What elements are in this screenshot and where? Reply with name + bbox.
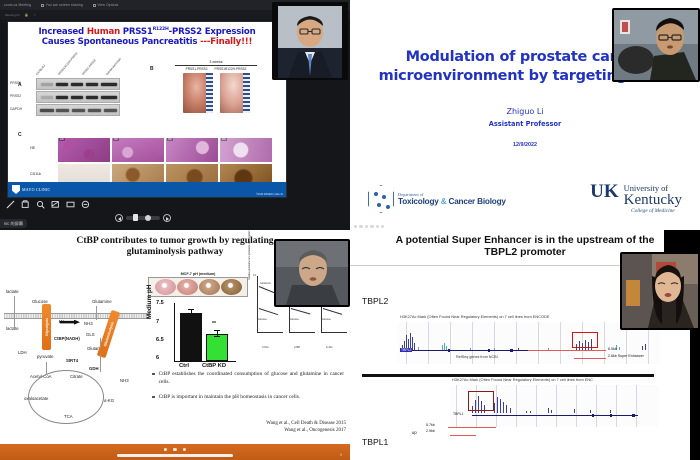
ihc-tag: 3W bbox=[113, 138, 119, 141]
blot-gel-0 bbox=[36, 78, 120, 90]
tca-cycle-circle bbox=[28, 370, 104, 424]
pw-lactate-in: lactate bbox=[6, 326, 19, 331]
presenter-video-thumbnail-3[interactable] bbox=[274, 239, 350, 307]
x-tick-ctrl: Ctrl bbox=[179, 363, 189, 369]
slide-progress-dots bbox=[354, 225, 384, 228]
y-tick-7.5: 7.5 bbox=[156, 300, 164, 306]
uk-line-2: Kentucky bbox=[624, 193, 682, 208]
blot-label-1: PRSS2 bbox=[10, 94, 21, 98]
y-tick-6.5: 6.5 bbox=[156, 337, 164, 343]
slide-logos: Department of Toxicology & Cancer Biolog… bbox=[350, 184, 700, 214]
toxicology-logo: Department of Toxicology & Cancer Biolog… bbox=[368, 185, 506, 213]
slide-number: 9 bbox=[340, 453, 342, 457]
promoter-highlight-box bbox=[468, 391, 494, 411]
medium-ph-bar-chart: Medium pH 7.5 7 6.5 6 * bbox=[148, 301, 248, 373]
pw-glutamine: Glutamine bbox=[92, 299, 112, 304]
logo-dept-amp: & bbox=[441, 197, 447, 206]
slide-title: Increased Human PRSS1R122H-PRSS2 Express… bbox=[8, 22, 286, 48]
series-glucose: Glucose bbox=[258, 318, 267, 321]
panel-c-row-label-cd11b: CD11b bbox=[30, 172, 41, 176]
ihc-tag: 4W bbox=[167, 138, 173, 141]
pen-icon[interactable] bbox=[6, 200, 15, 209]
blot-gel-1 bbox=[36, 91, 120, 103]
series-glucose: Glucose bbox=[290, 318, 299, 321]
pw-lactate-out: lactate bbox=[6, 289, 19, 294]
avatar bbox=[614, 10, 698, 80]
panel-c-row-label-he: HE bbox=[30, 146, 35, 150]
y-axis-label: Medium pH bbox=[146, 285, 153, 319]
menu-item-1[interactable]: You are screen sharing bbox=[41, 3, 83, 7]
slide-footer-bar: 9 bbox=[0, 444, 350, 460]
molecule-hex-icon bbox=[368, 185, 394, 213]
eraser-icon[interactable] bbox=[51, 200, 60, 209]
blot-row-prss2: PRSS2 bbox=[36, 91, 120, 103]
panel-bottom-left-ctbp-slide[interactable]: CtBP contributes to tumor growth by regu… bbox=[0, 230, 350, 460]
genome-track-tbpl1: H3K27Ac Mark (Often Found Near Regulator… bbox=[450, 385, 658, 427]
ihc-tile: 3W bbox=[112, 138, 164, 162]
title-seg-0: Increased bbox=[38, 27, 86, 37]
undo-icon[interactable] bbox=[81, 200, 90, 209]
well bbox=[199, 279, 220, 295]
western-blot: PRSS1 PRSS2 bbox=[36, 78, 120, 117]
toxicology-logo-text: Department of Toxicology & Cancer Biolog… bbox=[398, 192, 506, 206]
title-seg-4: -PRSS2 Expression bbox=[169, 27, 256, 37]
glutaminolysis-pathway-diagram: lactate Glucose Glutamine lactate H+ NH3… bbox=[4, 288, 144, 436]
mayo-logo-text: MAYO CLINIC bbox=[22, 187, 50, 192]
star-icon[interactable]: ☆ bbox=[33, 13, 36, 17]
bar-ctrl bbox=[180, 313, 202, 361]
lane-label-3: human pancreas bbox=[105, 57, 122, 76]
gene-label-tbpl2: TBPL2 bbox=[400, 348, 412, 352]
uk-monogram-icon: UK bbox=[590, 184, 619, 200]
frame-icon[interactable] bbox=[66, 200, 75, 209]
presenter-role: Assistant Professor bbox=[350, 120, 700, 128]
kb-line-2-6 bbox=[574, 358, 606, 359]
mayo-clinic-footer: MAYO CLINIC ©2020 MFMER | slide-10 bbox=[8, 182, 286, 197]
kb-label-2-9kb: 2.9kb bbox=[426, 429, 435, 433]
panel-top-left-zoom-share[interactable]: zoom.us Meeting You are screen sharing V… bbox=[0, 0, 350, 230]
bullet-text: CtBP is important in maintain the pH hom… bbox=[159, 393, 301, 401]
y-tick-7: 7 bbox=[156, 319, 159, 325]
scrubber[interactable] bbox=[126, 216, 160, 220]
dot bbox=[365, 225, 368, 228]
dot bbox=[381, 225, 384, 228]
ihc-tile: 1W bbox=[58, 138, 110, 162]
title-superscript: R122H bbox=[153, 27, 169, 32]
view-icon bbox=[93, 4, 96, 7]
reference-0: Wang et al., Cell Death & Disease 2015 bbox=[266, 420, 346, 428]
title-line-1: A potential Super Enhancer is in the ups… bbox=[350, 235, 700, 247]
title-line2-seg-0: Causes Spontaneous Pancreatitis bbox=[42, 37, 200, 47]
well bbox=[221, 279, 242, 295]
panel-letter-c: C bbox=[18, 132, 22, 138]
bullet-marker-icon bbox=[152, 396, 155, 399]
presenter-name: Zhiguo Li bbox=[350, 107, 700, 116]
blot-row-gapdh: GAPDH bbox=[36, 104, 120, 116]
bullet-item: CtBP establishes the coordinated consump… bbox=[152, 370, 344, 386]
menu-item-0[interactable]: zoom.us Meeting bbox=[4, 3, 31, 7]
series-glutamine: Glutamine bbox=[260, 282, 271, 285]
pw-pyruvate: pyruvate bbox=[37, 354, 53, 359]
dot bbox=[354, 225, 357, 228]
title-line2-seg-1: ---Finally!!! bbox=[200, 37, 252, 47]
ihc-tile: 4W bbox=[166, 138, 218, 162]
pw-ctbp-nadh: CtBP(NADH) bbox=[54, 336, 80, 341]
presentation-date: 12/9/2022 bbox=[350, 142, 700, 148]
y-axis-line bbox=[174, 303, 175, 361]
bullet-marker-icon bbox=[152, 373, 155, 376]
reference-1: Wang et al., Oncogenesis 2017 bbox=[266, 427, 346, 435]
pw-glucose: Glucose bbox=[32, 299, 48, 304]
blot-label-0: PRSS1 bbox=[10, 81, 21, 85]
bar-ctbp-kd bbox=[206, 334, 228, 361]
x-tick-ctbp-kd: CtBP KD bbox=[202, 363, 226, 369]
series-glucose: Glucose bbox=[322, 318, 331, 321]
playback-controls[interactable] bbox=[115, 214, 171, 222]
glycolysis-bar: Glycolysis bbox=[42, 304, 51, 350]
well bbox=[155, 279, 176, 295]
ph-chart-block: MCF-7 pH (medium) Medium pH 7.5 7 6.5 6 bbox=[148, 272, 248, 374]
pancreas-photo-mut bbox=[220, 73, 250, 113]
dot bbox=[376, 225, 379, 228]
lane-label-2: PRSS1-PRSS2 bbox=[81, 58, 97, 76]
panel-b-name-1: PRSS1R122H-PRSS2 bbox=[215, 67, 247, 71]
pw-sirt4: SIRT4 bbox=[66, 358, 78, 363]
avatar bbox=[622, 254, 698, 328]
presenter-video-thumbnail-2[interactable] bbox=[612, 8, 700, 82]
title-seg-2: PRSS1 bbox=[120, 27, 153, 37]
blot-gel-2 bbox=[36, 104, 120, 116]
refseq-caption: RefSeq genes from NCBI bbox=[456, 355, 498, 359]
pancreas-photo-wt bbox=[183, 73, 213, 113]
minipanel-title-3: 6-AN bbox=[326, 345, 332, 349]
panel-b-name-0: PRSS1-PRSS2 bbox=[186, 67, 208, 71]
slide-references: Wang et al., Cell Death & Disease 2015 W… bbox=[266, 420, 346, 435]
bullet-item: CtBP is important in maintain the pH hom… bbox=[152, 393, 344, 401]
uk-line-3: College of Medicine bbox=[624, 208, 682, 214]
avatar bbox=[272, 2, 348, 80]
up-label: up bbox=[412, 430, 417, 435]
screen-share-label: nic 的屏幕 bbox=[0, 219, 27, 228]
track-caption-2: H3K27Ac Mark (Often Found Near Regulator… bbox=[452, 377, 593, 382]
chart-caption: MCF-7 pH (medium) bbox=[148, 272, 248, 276]
pw-nh3-a: NH3 bbox=[84, 321, 93, 326]
avatar bbox=[276, 241, 348, 305]
slide-footer-right: ©2020 MFMER | slide-10 bbox=[256, 193, 283, 196]
menu-item-2[interactable]: View Options bbox=[93, 3, 119, 7]
gene-label-tbpl1: TBPL1 bbox=[452, 412, 464, 416]
kb-label-6-5kb: 6.5kb bbox=[608, 347, 617, 351]
label-tbpl1: TBPL1 bbox=[362, 437, 388, 447]
logo-dept-main2: Cancer Biology bbox=[448, 197, 505, 206]
panel-b-header: 3 weeks bbox=[156, 60, 276, 64]
panel-b-names: PRSS1-PRSS2 PRSS1R122H-PRSS2 bbox=[156, 67, 276, 71]
pw-nh3-b: NH3 bbox=[120, 378, 129, 383]
significance-marker: ** bbox=[212, 321, 216, 327]
rewind-button[interactable] bbox=[115, 214, 123, 222]
footer-underline bbox=[117, 454, 233, 457]
kb-label-5-7kb: 5.7kb bbox=[426, 423, 435, 427]
panel-letter-b: B bbox=[150, 66, 154, 72]
four-panel-video-grid: zoom.us Meeting You are screen sharing V… bbox=[0, 0, 700, 460]
label-tbpl2: TBPL2 bbox=[362, 296, 388, 306]
y-tick-6: 6 bbox=[156, 355, 159, 361]
slide-bullets: CtBP establishes the coordinated consump… bbox=[152, 370, 344, 408]
ihc-tag: 8W bbox=[221, 138, 227, 141]
panel-b-mice: 3 weeks PRSS1-PRSS2 PRSS1R122H-PRSS2 bbox=[156, 60, 276, 114]
spotlight-icon[interactable] bbox=[36, 200, 45, 209]
track-caption-1: H3K27Ac Mark (Often Found Near Regulator… bbox=[400, 314, 549, 319]
pw-akg: α-KG bbox=[104, 398, 114, 403]
blot-label-2: GAPDH bbox=[10, 107, 22, 111]
slide-body: A B C C57BL/6J PRSS1R122H-PRSS2 PRSS1-PR… bbox=[8, 52, 286, 186]
minipanel-title-1: 3 DG bbox=[262, 345, 269, 349]
pw-gdh: GDH bbox=[89, 366, 99, 371]
stamp-icon[interactable] bbox=[21, 200, 30, 209]
pw-ldh: LDH bbox=[18, 350, 27, 355]
annotation-toolbar[interactable] bbox=[6, 200, 90, 209]
kb-line-6-5 bbox=[528, 350, 606, 351]
super-enhancer-highlight-box bbox=[572, 332, 598, 348]
minipanel-y-label: Relative glutamine and glutamine consump… bbox=[248, 230, 251, 280]
presenter-video-thumbnail-4[interactable] bbox=[620, 252, 700, 330]
ihc-tile: 8W bbox=[220, 138, 272, 162]
bullet-text: CtBP establishes the coordinated consump… bbox=[159, 370, 344, 386]
lane-label-1: PRSS1R122H-PRSS2 bbox=[57, 51, 79, 76]
lane-label-0: C57BL/6J bbox=[35, 63, 46, 75]
logo-dept-main: Toxicology bbox=[398, 197, 439, 206]
kb-label-2-6kb: 2.6kb Super Enhancer bbox=[608, 354, 644, 358]
x-axis-line bbox=[174, 361, 236, 362]
dot bbox=[359, 225, 362, 228]
ihc-row-he: 1W 3W 4W 8W bbox=[58, 138, 273, 162]
panel-bottom-right-tbpl2-slide[interactable]: A potential Super Enhancer is in the ups… bbox=[350, 230, 700, 460]
video-overlay-mask bbox=[690, 328, 700, 460]
play-button[interactable] bbox=[163, 214, 171, 222]
meeting-id-label: Meeting ID bbox=[5, 13, 20, 17]
ihc-tag: 1W bbox=[59, 138, 65, 141]
university-of-kentucky-logo: UK University of Kentucky College of Med… bbox=[590, 184, 682, 214]
minipanel-title-2: 2-BP bbox=[294, 345, 300, 349]
blot-row-prss1: PRSS1 bbox=[36, 78, 120, 90]
footer-dots bbox=[164, 448, 186, 451]
culture-well-photo bbox=[148, 277, 248, 297]
panel-c-histology: HE 1W 3W 4W 8W CD11b bbox=[58, 138, 273, 188]
well bbox=[177, 279, 198, 295]
cell-membrane bbox=[4, 313, 150, 319]
blot-lane-labels: C57BL/6J PRSS1R122H-PRSS2 PRSS1-PRSS2 hu… bbox=[34, 50, 144, 78]
pw-gls: GLS bbox=[86, 332, 95, 337]
dot bbox=[370, 225, 373, 228]
panel-top-right-title-slide[interactable]: Modulation of prostate cancer microenvir… bbox=[350, 0, 700, 230]
lock-icon: 🔒 bbox=[25, 13, 29, 17]
panel-b-rule bbox=[175, 65, 257, 66]
uk-logo-text: University of Kentucky College of Medici… bbox=[624, 184, 682, 214]
mic-icon bbox=[41, 4, 44, 7]
title-seg-1: Human bbox=[87, 27, 120, 37]
mayo-shield-icon bbox=[12, 185, 20, 194]
shared-slide-prss1: Increased Human PRSS1R122H-PRSS2 Express… bbox=[7, 21, 287, 198]
presenter-video-thumbnail-1[interactable] bbox=[272, 2, 348, 80]
panel-b-images bbox=[156, 73, 276, 113]
